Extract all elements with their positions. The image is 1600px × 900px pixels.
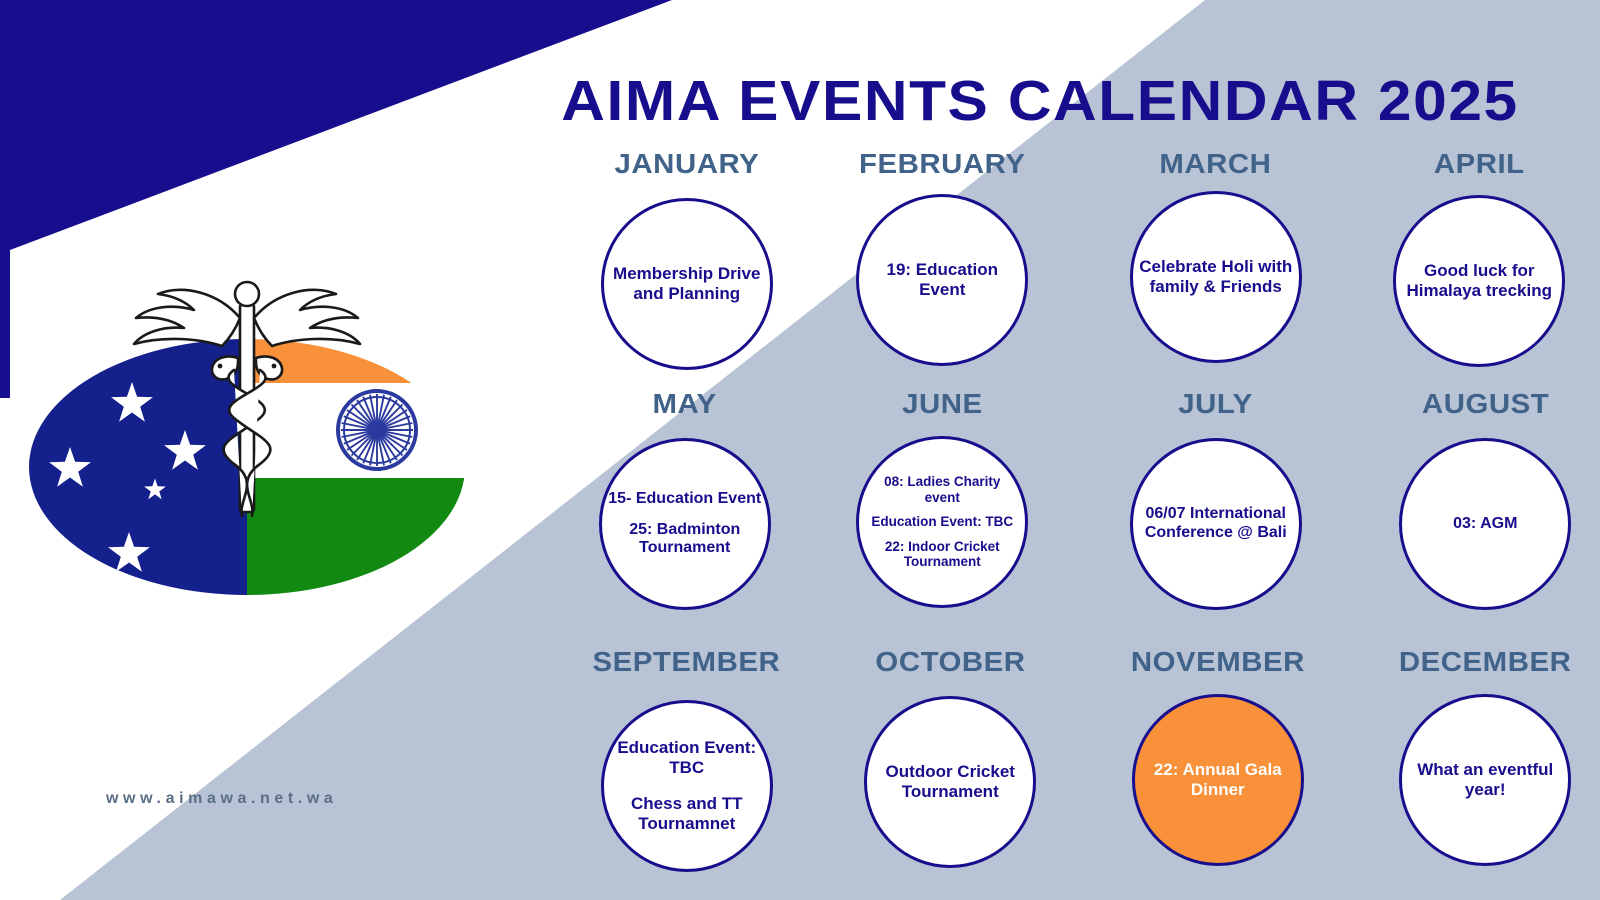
month-cell-mar: MARCHCelebrate Holi with family & Friend… [1087, 148, 1345, 370]
month-label-may: MAY [653, 388, 717, 420]
month-circle-nov[interactable]: 22: Annual Gala Dinner [1132, 694, 1304, 866]
event-text-may-2: 25: Badminton Tournament [602, 521, 768, 559]
month-circle-oct[interactable]: Outdoor Cricket Tournament [864, 696, 1036, 868]
month-circle-dec[interactable]: What an eventful year! [1399, 694, 1571, 866]
event-text-feb-1: 19: Education Event [859, 260, 1025, 300]
events-calendar-poster: AIMA EVENTS CALENDAR 2025 [0, 0, 1600, 900]
event-text-nov-1: 22: Annual Gala Dinner [1135, 760, 1301, 800]
aima-logo-graphic [22, 262, 472, 612]
month-cell-feb: FEBRUARY19: Education Event [814, 148, 1072, 370]
event-text-jun-2: Education Event: TBC [865, 514, 1019, 530]
month-cell-jul: JULY06/07 International Conference @ Bal… [1087, 370, 1345, 610]
event-text-jun-1: 08: Ladies Charity event [859, 474, 1025, 505]
indian-flag-green [247, 478, 472, 612]
event-text-oct-1: Outdoor Cricket Tournament [867, 762, 1033, 802]
month-circle-apr[interactable]: Good luck for Himalaya trecking [1393, 195, 1565, 367]
month-cell-apr: APRILGood luck for Himalaya trecking [1351, 148, 1600, 370]
event-text-aug-1: 03: AGM [1447, 515, 1523, 534]
event-text-jan-1: Membership Drive and Planning [604, 264, 770, 304]
event-text-mar-1: Celebrate Holi with family & Friends [1133, 257, 1299, 297]
month-label-dec: DECEMBER [1399, 646, 1571, 678]
calendar-grid: JANUARYMembership Drive and PlanningFEBR… [560, 148, 1590, 872]
month-label-nov: NOVEMBER [1131, 646, 1305, 678]
event-text-apr-1: Good luck for Himalaya trecking [1396, 261, 1562, 301]
month-circle-feb[interactable]: 19: Education Event [856, 194, 1028, 366]
month-circle-aug[interactable]: 03: AGM [1399, 438, 1571, 610]
month-cell-aug: AUGUST03: AGM [1357, 370, 1600, 610]
month-label-jan: JANUARY [614, 148, 759, 180]
month-cell-jan: JANUARYMembership Drive and Planning [558, 148, 816, 370]
event-text-sep-2: Chess and TT Tournamnet [604, 794, 770, 834]
month-circle-jan[interactable]: Membership Drive and Planning [601, 198, 773, 370]
month-label-feb: FEBRUARY [859, 148, 1025, 180]
event-text-sep-1: Education Event: TBC [604, 738, 770, 778]
month-label-sep: SEPTEMBER [593, 646, 781, 678]
month-circle-jun[interactable]: 08: Ladies Charity eventEducation Event:… [856, 436, 1028, 608]
month-label-mar: MARCH [1160, 148, 1272, 180]
month-circle-jul[interactable]: 06/07 International Conference @ Bali [1130, 438, 1302, 610]
month-label-oct: OCTOBER [875, 646, 1025, 678]
month-cell-sep: SEPTEMBEREducation Event: TBCChess and T… [558, 610, 816, 872]
event-text-may-1: 15- Education Event [602, 490, 767, 509]
event-text-dec-1: What an eventful year! [1402, 760, 1568, 800]
month-label-apr: APRIL [1434, 148, 1525, 180]
aima-logo [22, 262, 472, 612]
month-cell-oct: OCTOBEROutdoor Cricket Tournament [822, 610, 1080, 872]
month-circle-mar[interactable]: Celebrate Holi with family & Friends [1130, 191, 1302, 363]
website-url: www.aimawa.net.wa [106, 790, 337, 808]
event-text-jul-1: 06/07 International Conference @ Bali [1133, 505, 1299, 543]
month-circle-may[interactable]: 15- Education Event25: Badminton Tournam… [599, 438, 771, 610]
month-label-jun: JUNE [902, 388, 983, 420]
month-label-jul: JULY [1178, 388, 1253, 420]
ashoka-chakra-icon [338, 391, 416, 469]
month-cell-may: MAY15- Education Event25: Badminton Tour… [556, 370, 814, 610]
month-cell-nov: NOVEMBER22: Annual Gala Dinner [1089, 610, 1347, 872]
page-title: AIMA EVENTS CALENDAR 2025 [489, 72, 1591, 132]
month-cell-dec: DECEMBERWhat an eventful year! [1357, 610, 1600, 872]
month-cell-jun: JUNE08: Ladies Charity eventEducation Ev… [814, 370, 1072, 610]
month-label-aug: AUGUST [1422, 388, 1549, 420]
event-text-jun-3: 22: Indoor Cricket Tournament [859, 539, 1025, 570]
month-circle-sep[interactable]: Education Event: TBCChess and TT Tournam… [601, 700, 773, 872]
